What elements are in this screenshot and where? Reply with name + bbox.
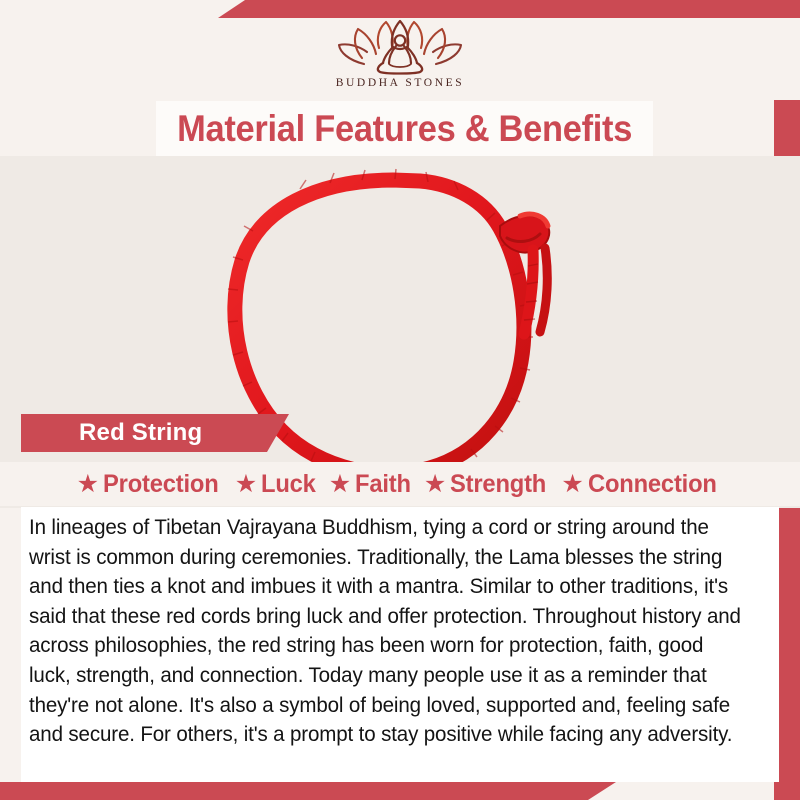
title-panel: Material Features & Benefits <box>156 101 653 156</box>
benefits-row: ★ Protection ★ Luck ★ Faith ★ Strength ★… <box>0 462 800 506</box>
red-string-bracelet-illustration <box>0 156 800 508</box>
benefit-item: ★ Strength <box>424 470 552 499</box>
benefit-label: Connection <box>588 470 717 499</box>
star-icon: ★ <box>77 472 99 497</box>
product-label-banner: Red String <box>21 414 289 452</box>
benefit-label: Protection <box>103 470 219 499</box>
infographic-page: BUDDHA STONES Material Features & Benefi… <box>0 0 800 800</box>
product-label: Red String <box>79 419 202 447</box>
benefit-label: Strength <box>450 470 546 499</box>
star-icon: ★ <box>329 472 351 497</box>
product-photo <box>0 156 800 508</box>
description-panel: In lineages of Tibetan Vajrayana Buddhis… <box>21 507 779 782</box>
brand-header: BUDDHA STONES <box>0 18 800 100</box>
brand-name: BUDDHA STONES <box>336 77 464 89</box>
decorative-band-bottom <box>0 782 616 800</box>
benefit-item: ★ Faith <box>329 470 414 499</box>
brand-logo: BUDDHA STONES <box>0 18 800 100</box>
benefit-item: ★ Protection <box>77 470 225 499</box>
lotus-meditation-icon <box>334 18 466 76</box>
star-icon: ★ <box>561 472 583 497</box>
star-icon: ★ <box>424 472 446 497</box>
page-title: Material Features & Benefits <box>177 108 632 150</box>
benefit-item: ★ Luck <box>235 470 319 499</box>
decorative-band-top <box>218 0 800 18</box>
description-text: In lineages of Tibetan Vajrayana Buddhis… <box>29 513 743 750</box>
benefit-label: Faith <box>355 470 411 499</box>
star-icon: ★ <box>235 472 257 497</box>
benefit-label: Luck <box>261 470 316 499</box>
benefit-item: ★ Connection <box>561 470 723 499</box>
